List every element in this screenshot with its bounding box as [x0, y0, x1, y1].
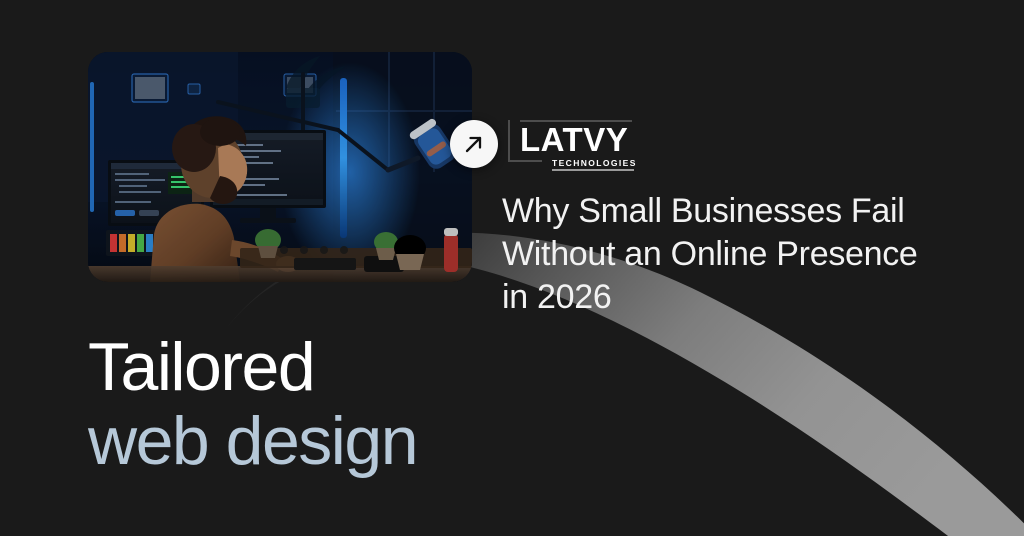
page-title-line-1: Tailored	[88, 330, 417, 404]
promo-poster: LATVY TECHNOLOGIES Why Small Businesses …	[0, 0, 1024, 536]
cta-arrow-button[interactable]	[450, 120, 498, 168]
logo-wordmark: LATVY	[520, 123, 628, 156]
logo-frame-bottom-rule	[508, 160, 542, 162]
hero-photo	[88, 52, 472, 282]
logo-subtitle-underline	[552, 169, 634, 171]
page-title: Tailored web design	[88, 330, 417, 478]
logo-frame-left-rule	[508, 120, 510, 162]
headline: Why Small Businesses Fail Without an Onl…	[502, 190, 1002, 319]
headline-line-1: Why Small Businesses Fail	[502, 192, 905, 230]
headline-line-3: in 2026	[502, 278, 611, 316]
page-title-line-2: web design	[88, 404, 417, 478]
hero-photo-illustration	[88, 52, 472, 282]
headline-line-2: Without an Online Presence	[502, 235, 918, 273]
arrow-up-right-icon	[463, 133, 485, 155]
logo-subtitle: TECHNOLOGIES	[552, 158, 637, 168]
brand-logo[interactable]: LATVY TECHNOLOGIES	[508, 120, 632, 170]
